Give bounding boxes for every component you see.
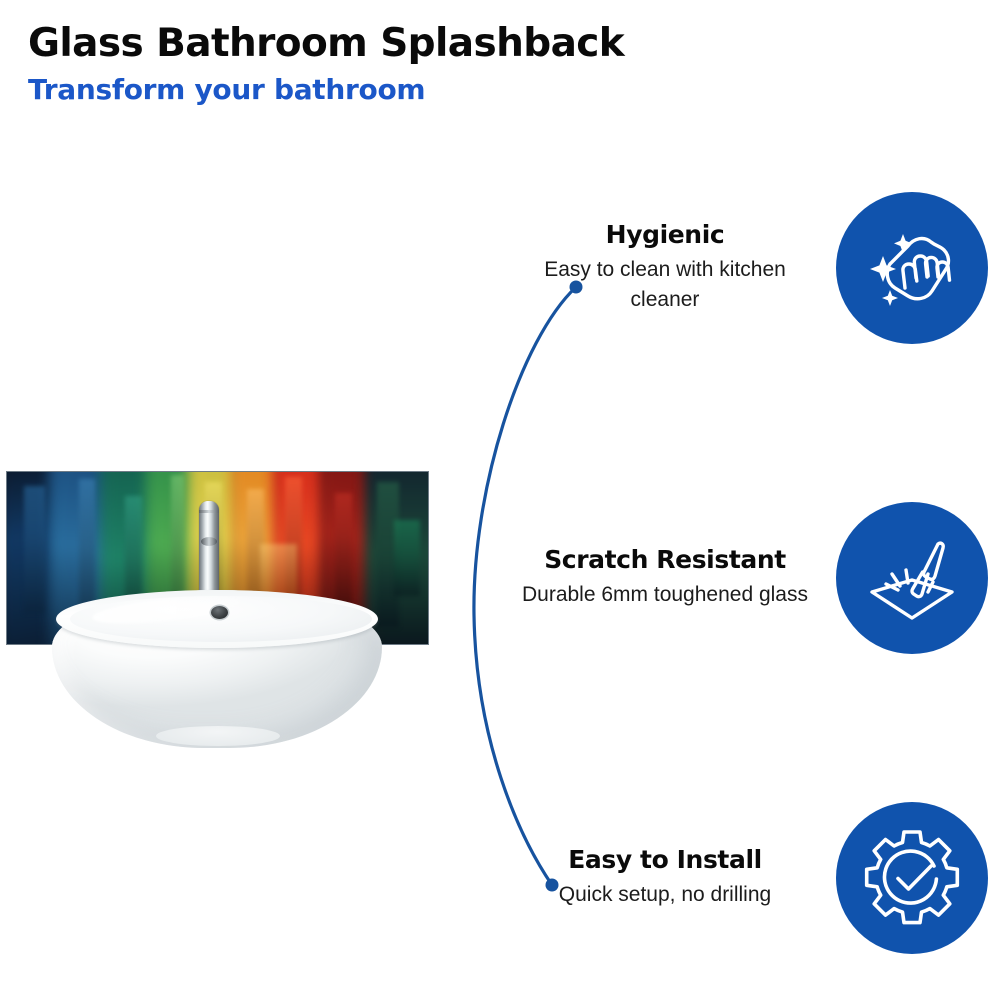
knife-scratch-surface-icon <box>860 526 964 630</box>
vessel-sink-basin <box>52 590 382 750</box>
inner-circle <box>884 851 936 903</box>
hand-wiping-sparkle-icon <box>860 216 964 320</box>
faucet-top-ring <box>199 510 219 513</box>
feature-title: Easy to Install <box>568 846 762 875</box>
feature-icon-circle-easy-to-install <box>836 802 988 954</box>
feature-text-easy-to-install: Easy to Install Quick setup, no drilling <box>500 793 830 963</box>
feature-text-hygienic: Hygienic Easy to clean with kitchen clea… <box>500 183 830 353</box>
feature-block-hygienic: Hygienic Easy to clean with kitchen clea… <box>500 183 1000 353</box>
gear-check-icon <box>859 825 965 931</box>
feature-icon-circle-scratch-resistant <box>836 502 988 654</box>
basin-foot <box>156 726 280 746</box>
impact-ray-3 <box>906 570 908 583</box>
page-title: Glass Bathroom Splashback <box>28 22 788 66</box>
product-image <box>0 440 440 780</box>
surface-plate <box>872 580 952 618</box>
product-infographic: Glass Bathroom Splashback Transform your… <box>0 0 1000 1000</box>
feature-block-scratch-resistant: Scratch Resistant Durable 6mm toughened … <box>500 493 1000 663</box>
feature-text-scratch-resistant: Scratch Resistant Durable 6mm toughened … <box>500 493 830 663</box>
header: Glass Bathroom Splashback Transform your… <box>28 22 788 106</box>
gear-outline <box>867 832 958 923</box>
check-mark <box>898 866 931 889</box>
feature-title: Hygienic <box>606 221 725 250</box>
page-subtitle: Transform your bathroom <box>28 73 788 107</box>
feature-description: Quick setup, no drilling <box>559 880 771 910</box>
faucet-lever <box>201 537 217 546</box>
feature-title: Scratch Resistant <box>544 546 786 575</box>
basin-rim <box>56 590 378 648</box>
feature-description: Durable 6mm toughened glass <box>522 580 808 610</box>
feature-block-easy-to-install: Easy to Install Quick setup, no drilling <box>500 793 1000 963</box>
feature-description: Easy to clean with kitchen cleaner <box>515 255 815 315</box>
overflow-hole <box>211 606 228 619</box>
feature-icon-circle-hygienic <box>836 192 988 344</box>
